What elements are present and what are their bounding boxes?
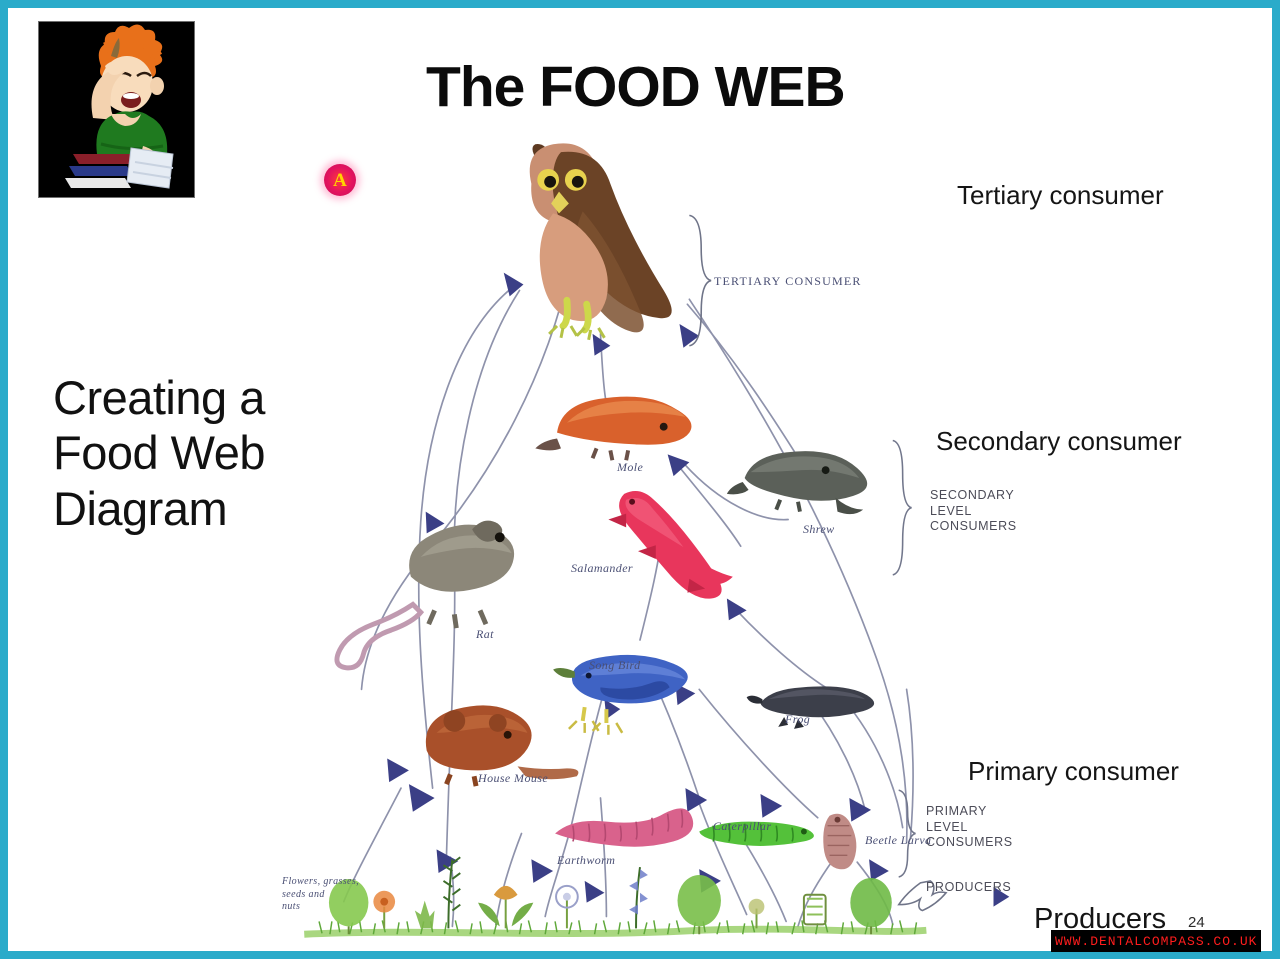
organism-label-salamander: Salamander <box>571 561 633 576</box>
page-title: The FOOD WEB <box>426 58 1026 116</box>
organism-earthworm <box>555 808 693 846</box>
subtitle-heading: Creating a Food Web Diagram <box>53 370 383 536</box>
organism-label-beetlelarva: Beetle Larva <box>865 833 931 847</box>
label-primary-consumer: Primary consumer <box>968 756 1179 787</box>
handwritten-secondary-level-consumers: SECONDARY LEVEL CONSUMERS <box>930 488 1017 535</box>
animation-badge-letter: A <box>333 171 347 190</box>
label-tertiary-consumer: Tertiary consumer <box>957 180 1164 211</box>
slide-canvas: .ln{fill:none;stroke:#8e92ab;stroke-widt… <box>0 0 1280 959</box>
watermark-text: WWW.DENTALCOMPASS.CO.UK <box>1055 934 1257 949</box>
organism-salamander <box>608 491 732 599</box>
slide-page-number: 24 <box>1188 914 1205 931</box>
organism-mole <box>535 397 691 461</box>
organism-label-songbird: Song Bird <box>589 658 641 673</box>
organism-rat <box>337 521 514 668</box>
organism-label-shrew: Shrew <box>803 522 835 537</box>
organism-label-earthworm: Earthworm <box>557 853 615 868</box>
label-secondary-consumer: Secondary consumer <box>936 426 1182 457</box>
organism-label-rat: Rat <box>476 627 494 642</box>
animation-badge[interactable]: A <box>324 164 356 196</box>
watermark: WWW.DENTALCOMPASS.CO.UK <box>1051 930 1261 952</box>
organism-label-mole: Mole <box>617 460 643 475</box>
organism-label-producers: Flowers, grasses, seeds and nuts <box>282 876 359 914</box>
organism-label-housemouse: House Mouse <box>478 771 548 786</box>
organism-owl <box>530 143 672 339</box>
handwritten-primary-level-consumers: PRIMARY LEVEL CONSUMERS <box>926 804 1013 851</box>
organism-shrew <box>727 451 867 514</box>
handwritten-producers: PRODUCERS <box>926 880 1011 896</box>
organism-frog <box>747 686 874 728</box>
organism-label-frog: Frog <box>785 712 810 727</box>
handwritten-tertiary-consumer: TERTIARY CONSUMER <box>714 274 862 289</box>
frustrated-student-clipart <box>38 21 195 198</box>
organism-beetlelarva <box>823 814 856 870</box>
brace-secondary <box>893 441 912 575</box>
producers-vegetation <box>304 857 926 934</box>
organism-label-caterpillar: Caterpillar <box>713 819 771 834</box>
